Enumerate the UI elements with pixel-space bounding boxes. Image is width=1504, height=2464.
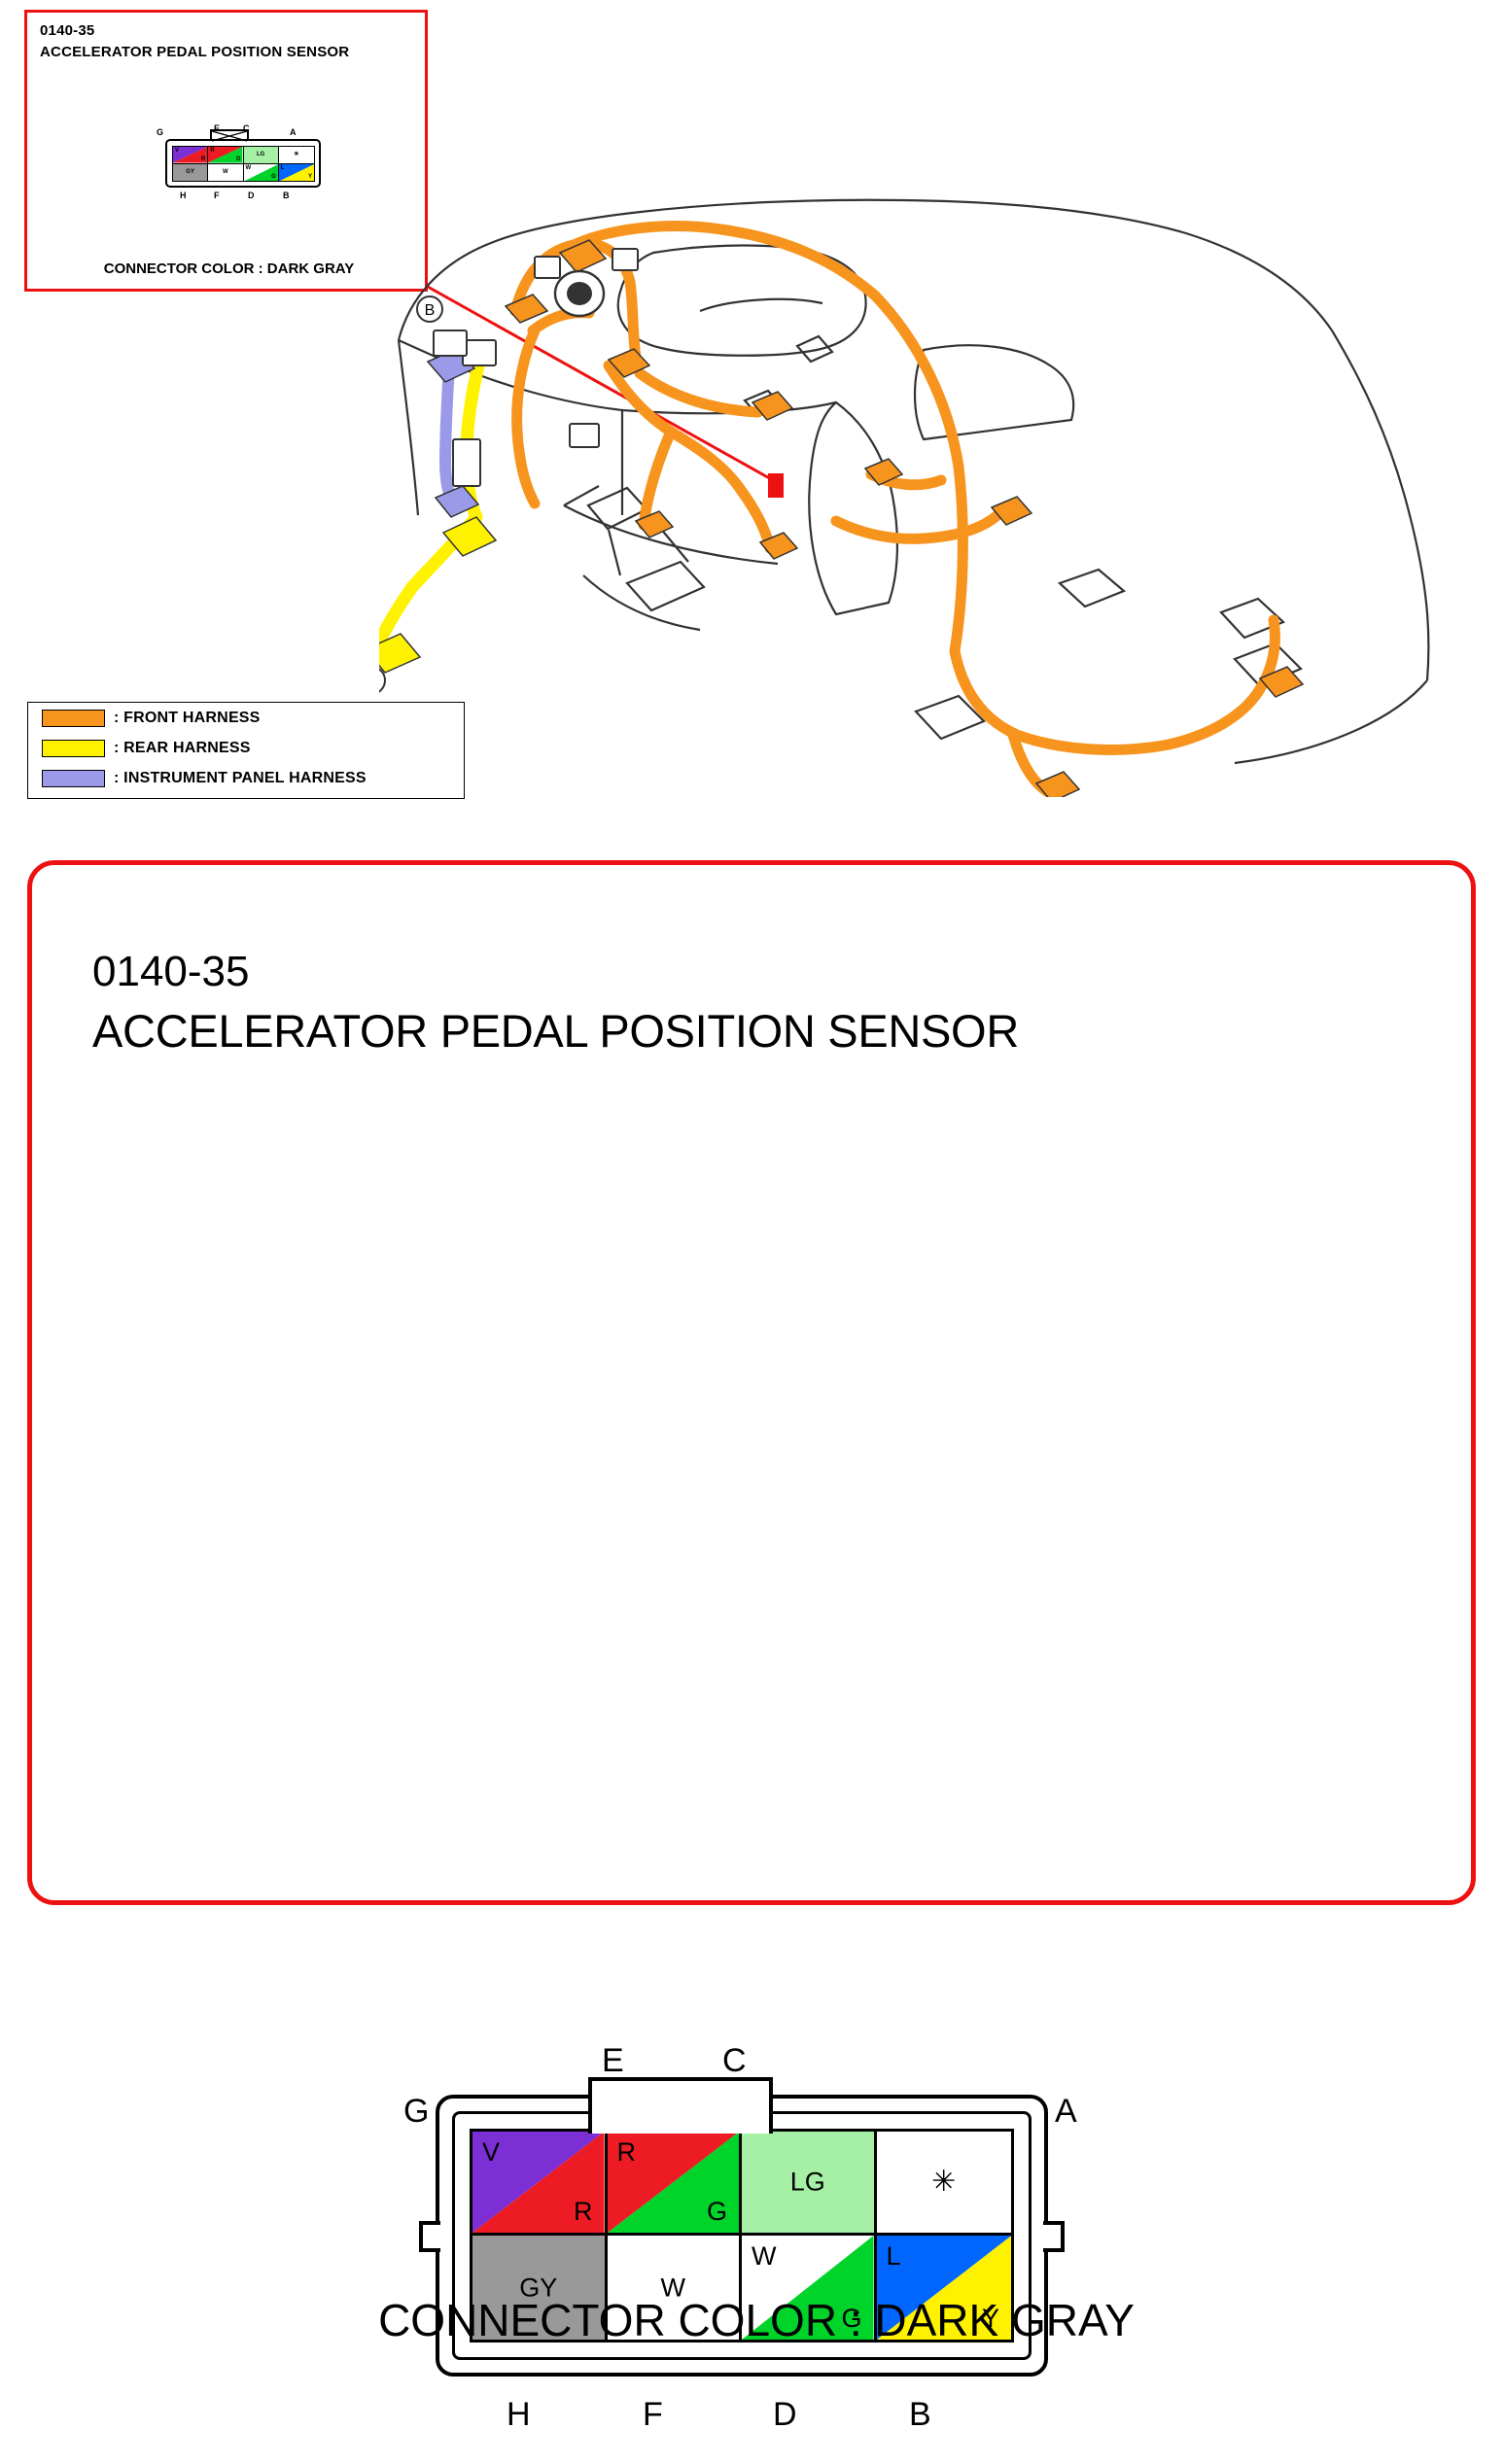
pin-label-H: H [507,2396,531,2434]
pin-label-A: A [1055,2093,1077,2131]
legend-swatch-front-harness [42,710,105,727]
callout-code: 0140-35 [40,22,94,39]
mini-pin-A-primary: ✳ [294,152,298,157]
legend-swatch-ip-harness [42,770,105,787]
panel-connector-color: CONNECTOR COLOR : DARK GRAY [32,2294,1481,2346]
connector-right-tab [1043,2221,1065,2252]
pin-E-wire-primary: R [617,2139,637,2166]
mini-pin-cell-H: GY [173,164,208,182]
mini-pin-cell-B: L Y [279,164,314,182]
pin-B-wire-primary: L [887,2243,901,2270]
mini-label-A: A [290,127,297,137]
mini-label-E: E [214,123,220,133]
mini-pin-G-primary: V [175,148,179,154]
pin-label-E: E [602,2042,624,2080]
mini-label-C: C [243,123,250,133]
pin-label-G: G [403,2093,429,2131]
mini-label-B: B [283,191,290,200]
mini-pin-B-secondary: Y [308,174,312,180]
detail-panel: 0140-35 ACCELERATOR PEDAL POSITION SENSO… [27,860,1476,1905]
pin-H-wire-primary: GY [519,2274,557,2301]
pin-cell-A: ✳ [877,2132,1012,2236]
legend-swatch-rear-harness [42,740,105,757]
mini-pin-cell-C: LG [244,147,279,164]
mini-label-G: G [157,127,163,137]
mini-pin-cell-D: W G [244,164,279,182]
mini-pin-F-primary: W [223,169,228,175]
mini-pin-E-secondary: G [236,156,241,162]
pin-label-C: C [722,2042,747,2080]
panel-code: 0140-35 [92,948,249,996]
pin-F-wire-primary: W [661,2274,685,2301]
pin-label-F: F [643,2396,663,2434]
mini-pin-C-primary: LG [257,152,264,157]
mini-label-D: D [248,191,255,200]
mini-label-F: F [214,191,220,200]
pin-C-wire-primary: LG [790,2169,825,2196]
pin-label-D: D [773,2396,797,2434]
pin-G-wire-primary: V [482,2139,500,2166]
pin-E-wire-secondary: G [707,2199,727,2225]
legend-label-front-harness: : FRONT HARNESS [114,710,261,727]
callout-box: 0140-35 ACCELERATOR PEDAL POSITION SENSO… [24,10,428,292]
mini-label-H: H [180,191,187,200]
pin-G-wire-secondary: R [574,2199,593,2225]
pin-D-wire-primary: W [752,2243,776,2270]
callout-title: ACCELERATOR PEDAL POSITION SENSOR [40,44,349,60]
pin-cell-C: LG [742,2132,877,2236]
legend-label-ip-harness: : INSTRUMENT PANEL HARNESS [114,770,367,787]
harness-legend: : FRONT HARNESS : REAR HARNESS : INSTRUM… [27,702,465,799]
legend-row-front-harness: : FRONT HARNESS [28,703,464,733]
pin-A-wire-primary: ✳ [931,2168,956,2197]
pin-B-wire-secondary: Y [982,2306,999,2332]
mini-connector-diagram: V R R G LG ✳ GY W [154,127,333,200]
mini-pin-cell-A: ✳ [279,147,314,164]
pin-D-wire-secondary: G [841,2306,861,2332]
mini-pin-cell-G: V R [173,147,208,164]
mini-pin-H-primary: GY [186,169,194,175]
harness-illustration: A B [379,194,1468,797]
legend-row-rear-harness: : REAR HARNESS [28,733,464,763]
mini-pin-cell-E: R G [208,147,243,164]
mini-pin-D-secondary: G [271,174,276,180]
mini-pin-D-primary: W [246,165,252,171]
panel-title: ACCELERATOR PEDAL POSITION SENSOR [92,1004,1019,1058]
connector-pinout-diagram: V R R G LG ✳ GY W [411,2056,1072,2464]
mini-pin-cell-F: W [208,164,243,182]
pin-cell-E: R G [608,2132,743,2236]
legend-row-ip-harness: : INSTRUMENT PANEL HARNESS [28,763,464,793]
connector-top-tab [588,2077,773,2134]
pin-label-B: B [909,2396,931,2434]
legend-label-rear-harness: : REAR HARNESS [114,740,251,757]
marker-b-text: B [425,302,436,319]
mini-pin-grid: V R R G LG ✳ GY W [172,146,315,182]
connector-left-tab [419,2221,440,2252]
mini-pin-E-primary: R [210,148,214,154]
callout-connector-color: CONNECTOR COLOR : DARK GRAY [27,260,431,277]
mini-pin-B-primary: L [281,165,285,171]
mini-pin-G-secondary: R [201,156,205,162]
pin-cell-G: V R [472,2132,608,2236]
